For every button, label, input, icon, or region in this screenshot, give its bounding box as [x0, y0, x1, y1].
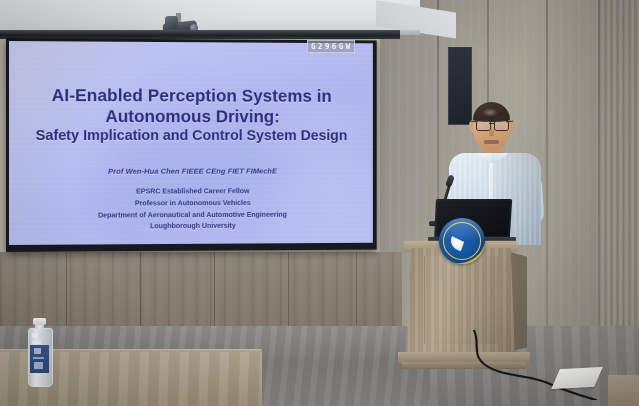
wall-seam — [140, 252, 141, 328]
slide-content: AI-Enabled Perception Systems in Autonom… — [9, 85, 373, 233]
slide-subtitle: Safety Implication and Control System De… — [9, 127, 373, 146]
wall-seam — [356, 252, 357, 328]
bottle-label — [30, 345, 49, 373]
floor-step — [608, 375, 639, 406]
dark-wall-panel — [448, 47, 472, 125]
label-mark — [34, 348, 41, 354]
slide-affiliation: EPSRC Established Career Fellow Professo… — [9, 185, 373, 233]
osd-char: G — [339, 42, 344, 51]
crest-gloss — [439, 218, 485, 240]
label-mark — [32, 341, 41, 344]
wall-seam — [66, 252, 67, 328]
osd-char: G — [311, 42, 316, 51]
podium-front-panel — [424, 256, 498, 344]
affiliation-line: Loughborough University — [9, 219, 373, 232]
speaker-eyebrow — [477, 116, 488, 118]
speaker-nose — [489, 127, 494, 136]
osd-char: 6 — [332, 42, 337, 51]
glasses-bridge — [489, 123, 495, 124]
lower-wall-panel — [0, 252, 402, 328]
slide-author: Prof Wen-Hua Chen FIEEE CEng FIET FIMech… — [9, 167, 373, 177]
ribbed-wall-panel — [600, 0, 639, 340]
speaker-mouth — [484, 140, 499, 144]
podium-plinth — [402, 362, 526, 369]
speaker-eyebrow — [495, 116, 506, 118]
osd-char: 9 — [325, 42, 330, 51]
wall-seam — [288, 252, 289, 328]
slide-title-line2: Autonomous Driving: — [9, 106, 373, 127]
bottle-cap — [33, 318, 46, 325]
wall-seam — [214, 252, 215, 328]
projector-head — [165, 16, 178, 29]
osd-char: 2 — [318, 42, 323, 51]
projector-osd-badge: G 2 9 6 G W — [307, 40, 355, 53]
label-mark — [32, 333, 38, 338]
slide-surface: AI-Enabled Perception Systems in Autonom… — [9, 41, 373, 245]
ceiling — [0, 0, 420, 34]
lecture-hall-photo: AI-Enabled Perception Systems in Autonom… — [0, 0, 639, 406]
label-mark — [34, 362, 43, 369]
slide-title-line1: AI-Enabled Perception Systems in — [9, 85, 373, 107]
osd-char: W — [346, 42, 351, 51]
projection-screen[interactable]: AI-Enabled Perception Systems in Autonom… — [6, 38, 377, 252]
label-mark — [33, 357, 44, 359]
wall-seam — [546, 0, 548, 340]
university-crest-icon — [439, 218, 485, 264]
